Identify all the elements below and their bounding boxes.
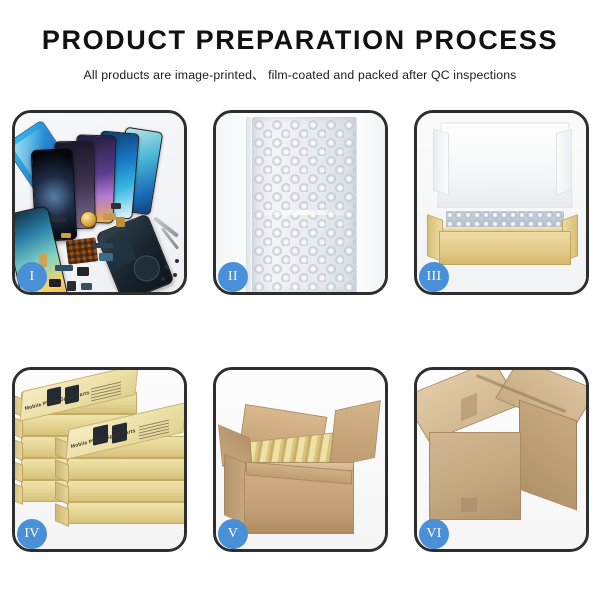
part-icon: [61, 233, 71, 238]
part-icon: [49, 279, 61, 287]
part-icon: [51, 217, 66, 222]
step-number-badge: I: [17, 262, 47, 292]
carton-tape: [461, 498, 477, 512]
bubble-texture: [254, 120, 354, 290]
screw-icon: [161, 277, 165, 281]
box-layer: [67, 458, 184, 480]
screw-icon: [175, 259, 179, 263]
box-lid-flap: [433, 129, 449, 196]
product-preparation-infographic: PRODUCT PREPARATION PROCESS All products…: [0, 0, 600, 600]
part-icon: [99, 253, 113, 261]
bubble-wrap-icon: [252, 117, 356, 292]
part-icon: [116, 217, 125, 227]
part-icon: [77, 267, 89, 276]
part-icon: [111, 203, 121, 209]
box-lid-flap: [556, 129, 572, 196]
process-step-2: II: [213, 110, 388, 295]
process-step-3: III: [414, 110, 589, 295]
bubble-wrap-seam: [256, 210, 352, 215]
part-icon: [81, 283, 92, 290]
part-icon: [93, 243, 113, 248]
process-step-grid: I II: [12, 110, 588, 552]
process-step-4: Mobile Phone Spare Parts Mobile Phone Sp…: [12, 367, 187, 552]
process-step-1: I: [12, 110, 187, 295]
header: PRODUCT PREPARATION PROCESS All products…: [0, 0, 600, 83]
page-subtitle: All products are image-printed、 film-coa…: [0, 65, 600, 83]
carton-side-panel: [224, 453, 246, 525]
step-number-badge: III: [419, 262, 449, 292]
step-number-badge: VI: [419, 519, 449, 549]
process-step-6: VI: [414, 367, 589, 552]
step-number-badge: II: [218, 262, 248, 292]
box-layer: [67, 480, 184, 502]
process-step-5: V: [213, 367, 388, 552]
step-number-badge: V: [218, 519, 248, 549]
box-layer: [67, 502, 184, 524]
step-number-badge: IV: [17, 519, 47, 549]
stacked-boxes-icon: Mobile Phone Spare Parts Mobile Phone Sp…: [15, 376, 184, 546]
part-icon: [67, 281, 76, 291]
screw-icon: [165, 265, 169, 269]
camera-lens-icon: [80, 211, 97, 228]
carton-flap-right: [329, 400, 381, 468]
screw-icon: [173, 273, 177, 277]
box-lid-icon: [437, 123, 573, 208]
part-icon: [55, 265, 73, 271]
box-front-panel: [439, 231, 571, 265]
page-title: PRODUCT PREPARATION PROCESS: [0, 26, 600, 56]
part-icon: [103, 213, 116, 220]
chip-icon: [66, 237, 99, 264]
